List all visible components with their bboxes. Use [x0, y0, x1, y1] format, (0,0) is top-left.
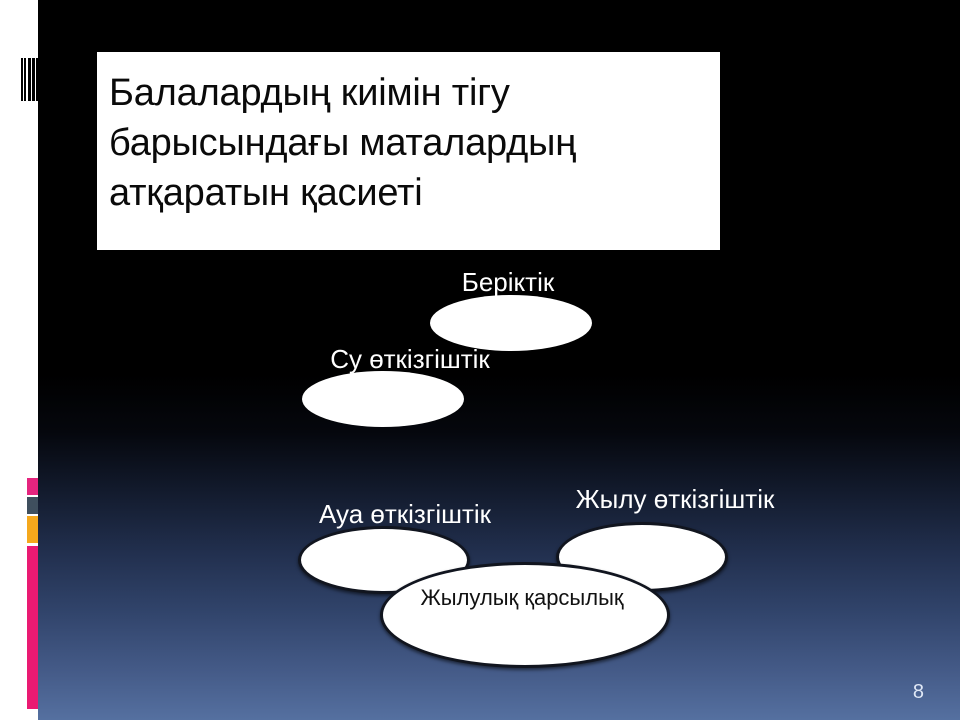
diagram-node-1-label: Беріктік [398, 268, 618, 298]
diagram-node-3-label: Ауа өткізгіштік [295, 500, 515, 530]
page-number: 8 [913, 681, 924, 704]
diagram-node-2-ellipse[interactable] [302, 371, 464, 427]
diagram-node-5-ellipse[interactable] [380, 562, 670, 668]
slide-canvas: Балалардың киімін тігу барысындағы матал… [0, 0, 960, 720]
diagram-container: Беріктік Су өткізгіштік Ауа өткізгіштік … [0, 0, 960, 720]
diagram-node-4-label: Жылу өткізгіштік [565, 485, 785, 515]
diagram-node-1-ellipse[interactable] [430, 295, 592, 351]
diagram-node-5-label: Жылулық қарсылық [396, 585, 648, 610]
